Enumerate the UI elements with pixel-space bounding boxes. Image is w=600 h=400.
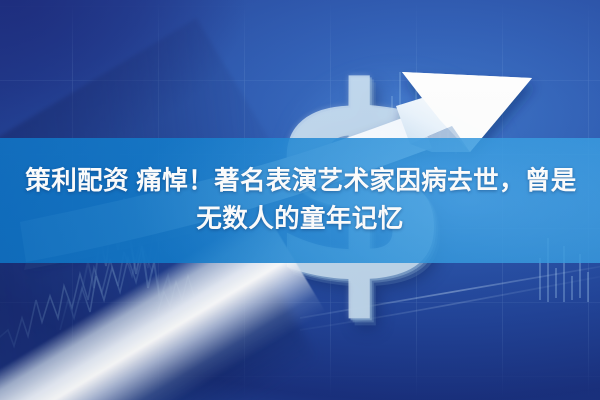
headline-line-1: 策利配资 痛悼！著名表演艺术家因病去世，曾是 (23, 165, 576, 199)
news-banner-image: $ $ (0, 0, 600, 400)
headline-text-block: 策利配资 痛悼！著名表演艺术家因病去世，曾是 无数人的童年记忆 (0, 138, 600, 263)
headline-line-2: 无数人的童年记忆 (196, 203, 403, 237)
